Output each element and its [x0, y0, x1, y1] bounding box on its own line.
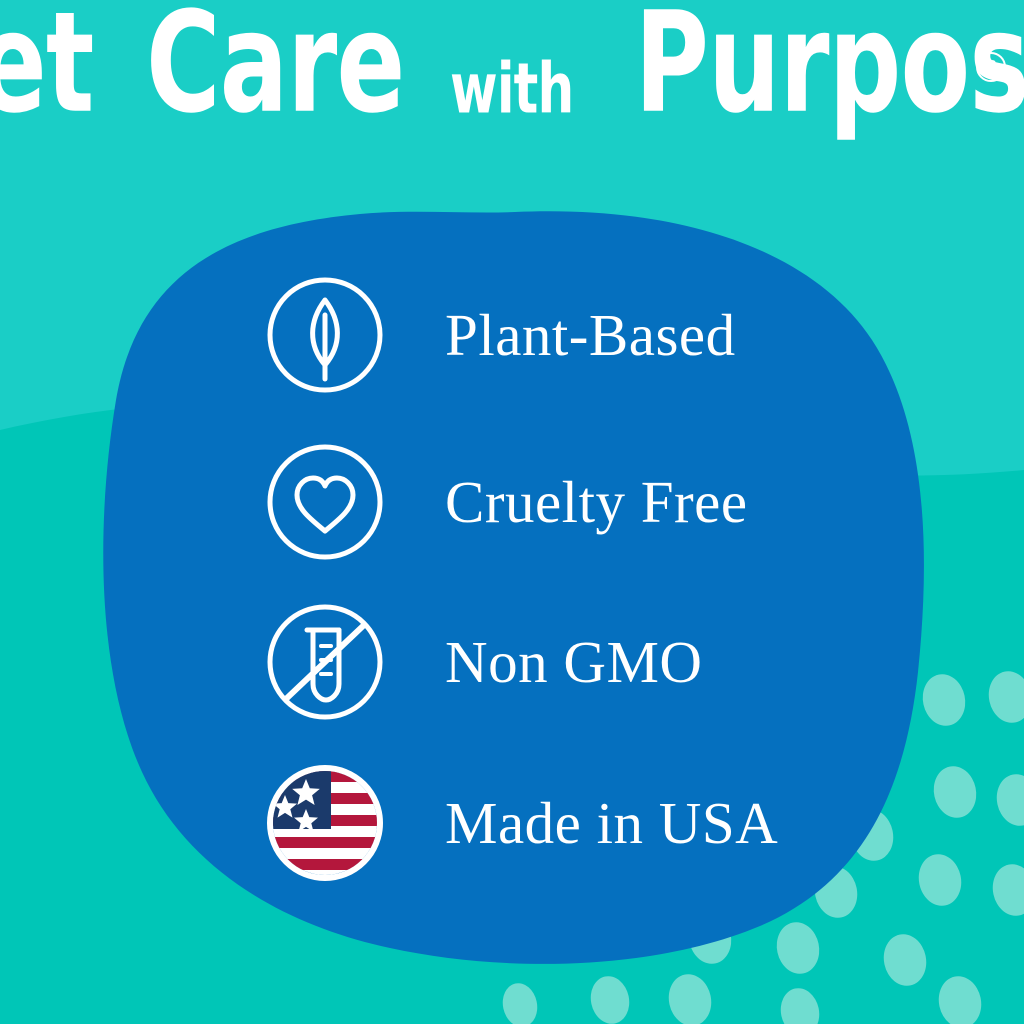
headline: Pet Care with Purpose	[0, 14, 1024, 194]
feature-row: Made in USA	[265, 763, 778, 883]
leaf-icon	[265, 275, 385, 395]
headline-word-pet: Pet	[0, 0, 94, 132]
headline-word-care: Care	[146, 0, 404, 132]
feature-label: Plant-Based	[445, 306, 736, 365]
feature-label: Non GMO	[445, 633, 703, 692]
registered-trademark-icon: R	[976, 52, 1006, 82]
headline-connector-with: with	[450, 54, 573, 124]
headline-word-purpose: Purpose	[635, 0, 1024, 132]
promo-graphic: Pet Care with Purpose R Plant-Based Crue…	[0, 0, 1024, 1024]
feature-label: Cruelty Free	[445, 473, 748, 532]
feature-label: Made in USA	[445, 794, 778, 853]
heart-icon	[265, 442, 385, 562]
usa-flag-icon	[265, 763, 385, 883]
no-gmo-icon	[265, 602, 385, 722]
feature-row: Plant-Based	[265, 275, 736, 395]
feature-row: Non GMO	[265, 602, 703, 722]
feature-row: Cruelty Free	[265, 442, 748, 562]
